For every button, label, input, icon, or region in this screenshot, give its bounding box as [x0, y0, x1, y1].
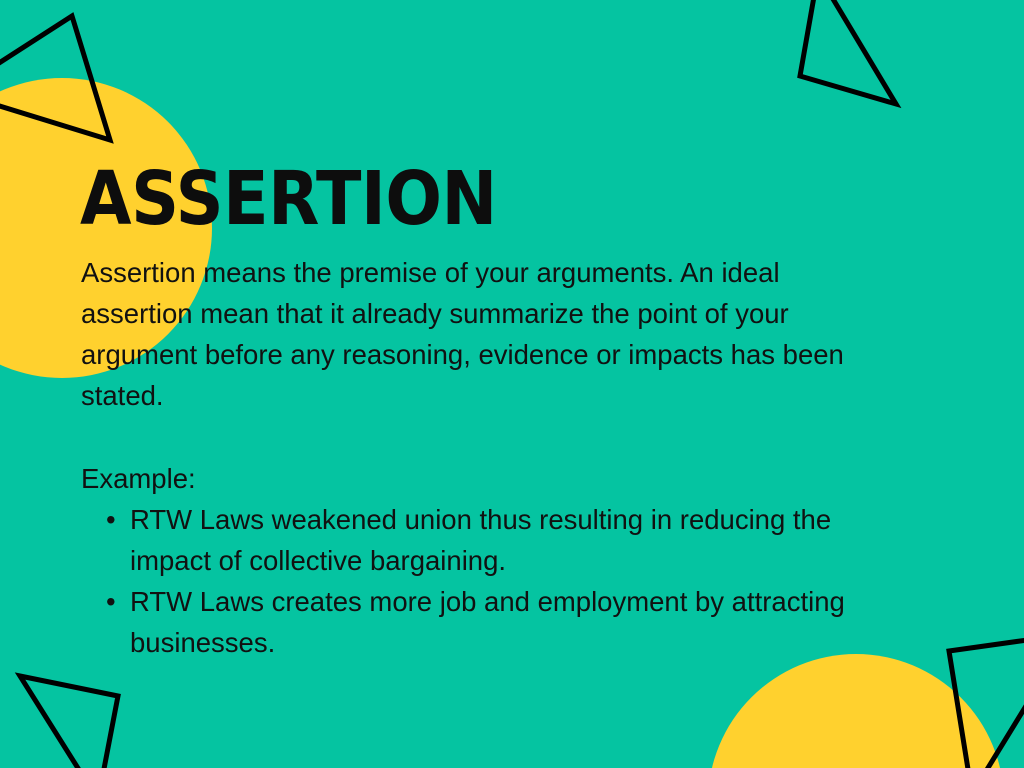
slide-content: ASSERTION Assertion means the premise of… [0, 0, 1024, 768]
bullet-point-icon: • [106, 499, 116, 540]
example-section: Example: • RTW Laws weakened union thus … [81, 458, 911, 663]
list-item: • RTW Laws creates more job and employme… [81, 581, 911, 663]
page-title: ASSERTION [80, 160, 497, 238]
list-item-label: RTW Laws creates more job and employment… [130, 586, 845, 658]
example-label: Example: [81, 458, 911, 499]
bullet-point-icon: • [106, 581, 116, 622]
slide-canvas: ASSERTION Assertion means the premise of… [0, 0, 1024, 768]
list-item-label: RTW Laws weakened union thus resulting i… [130, 504, 831, 576]
body-paragraph: Assertion means the premise of your argu… [81, 252, 896, 416]
example-bullet-list: • RTW Laws weakened union thus resulting… [81, 499, 911, 663]
list-item: • RTW Laws weakened union thus resulting… [81, 499, 911, 581]
